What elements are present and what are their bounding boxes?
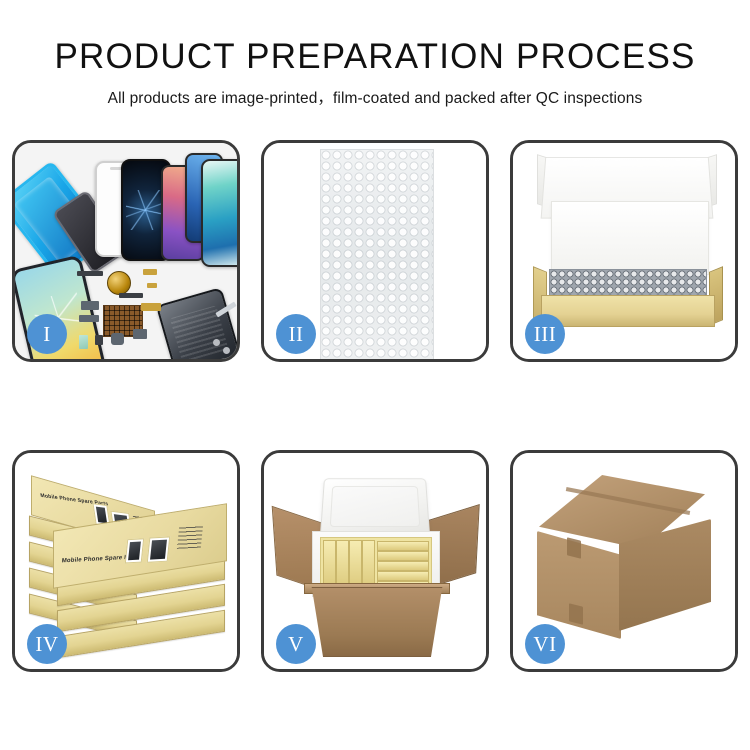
box-front-panel <box>541 295 715 327</box>
step-badge-5: V <box>276 624 316 664</box>
screw-2 <box>223 347 230 354</box>
process-step-1[interactable]: I <box>12 140 240 362</box>
process-step-3[interactable]: III <box>510 140 738 362</box>
part-flex <box>119 293 143 298</box>
part-speaker <box>111 333 124 345</box>
part-sensor <box>79 335 88 349</box>
step-badge-6: VI <box>525 624 565 664</box>
process-step-5[interactable]: V <box>261 450 489 672</box>
foam-sheet <box>551 201 709 275</box>
foam-box-lid <box>320 478 430 536</box>
part-flex-gold <box>141 303 161 311</box>
carton-body <box>306 587 448 657</box>
carton-tape-upper <box>567 537 581 558</box>
box-label-thumb-c <box>125 538 144 563</box>
part-bracket-2 <box>79 315 99 322</box>
page-header: PRODUCT PREPARATION PROCESS All products… <box>0 0 750 110</box>
teal-swirl-phone <box>201 159 237 267</box>
process-step-4[interactable]: Mobile Phone Spare Parts Mobile Phone Sp… <box>12 450 240 672</box>
part-button <box>95 335 103 345</box>
part-strip <box>77 271 103 276</box>
carton-tape-lower <box>569 603 583 624</box>
box-label-spec-lines-front <box>177 525 203 549</box>
step-badge-2: II <box>276 314 316 354</box>
step-badge-1: I <box>27 314 67 354</box>
part-bracket <box>81 301 99 310</box>
part-camera <box>133 329 147 339</box>
screw <box>213 339 220 346</box>
process-grid: I II III <box>12 140 738 672</box>
bubble-wrap-bag <box>320 149 434 359</box>
part-gold-clip <box>143 269 157 275</box>
page-subtitle: All products are image-printed，film-coat… <box>0 88 750 110</box>
box-label-thumb-d <box>147 536 170 562</box>
gold-component <box>107 271 131 295</box>
process-step-2[interactable]: II <box>261 140 489 362</box>
page-title: PRODUCT PREPARATION PROCESS <box>0 36 750 78</box>
process-step-6[interactable]: VI <box>510 450 738 672</box>
step-badge-4: IV <box>27 624 67 664</box>
part-gold-clip-2 <box>147 283 157 288</box>
step-badge-3: III <box>525 314 565 354</box>
